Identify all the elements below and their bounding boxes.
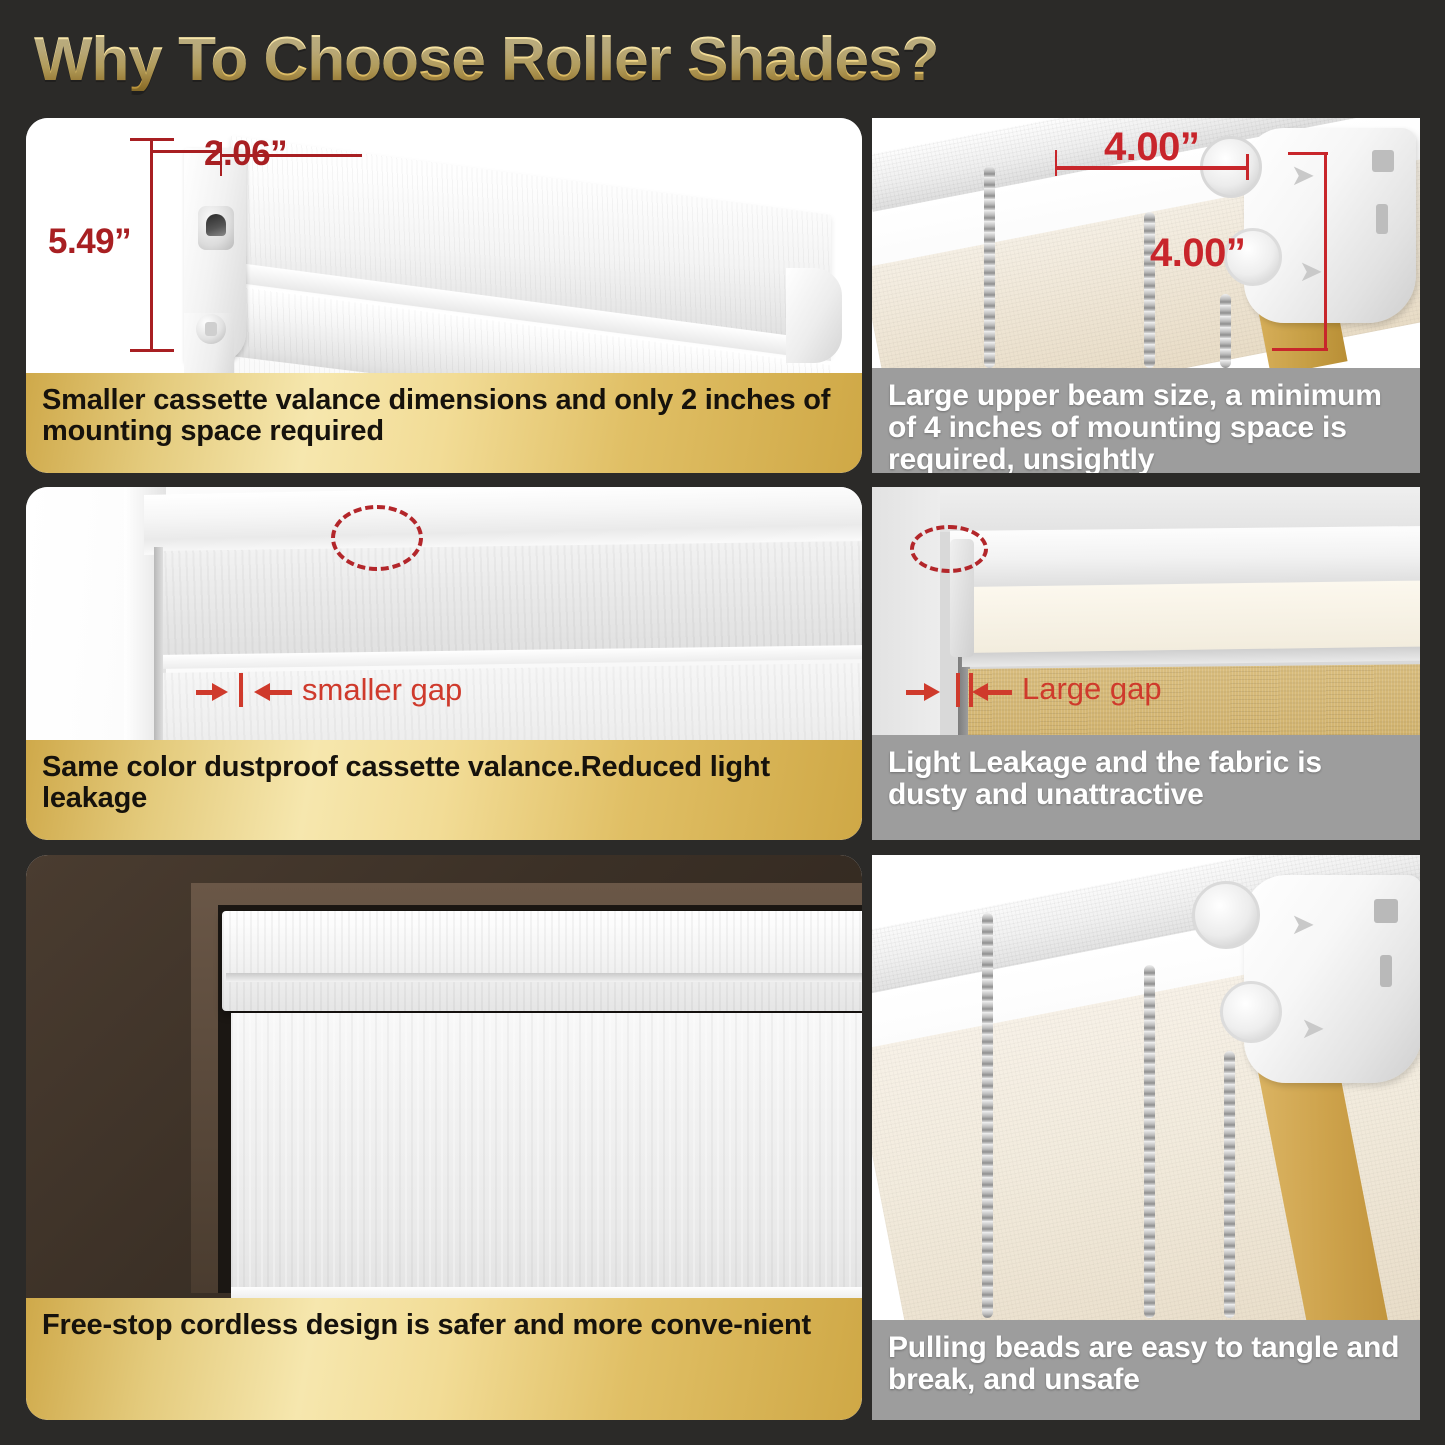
panel-4-caption: Light Leakage and the fabric is dusty an… <box>872 735 1420 840</box>
head-rail <box>950 526 1420 589</box>
head-rail-lower <box>962 580 1420 655</box>
panel-5-caption-text: Free-stop cordless design is safer and m… <box>42 1310 811 1341</box>
bead-chain-left <box>984 166 995 368</box>
dim-height-bottom-tick <box>130 349 174 352</box>
dim-height-line-2 <box>1324 268 1327 350</box>
panel-pulling-beads: ➤ ➤ Pulling beads are easy to tangle and… <box>872 855 1420 1420</box>
gap-label: smaller gap <box>302 672 462 708</box>
panel-6-photo: ➤ ➤ <box>872 855 1420 1320</box>
gap-arrow-right-stem <box>906 690 928 695</box>
dim-height-bottom-tick <box>1272 348 1328 351</box>
bracket-slot-upper <box>1372 150 1394 172</box>
gap-arrow-right-stem <box>196 690 216 695</box>
panel-3-caption-text: Same color dustproof cassette valance.Re… <box>42 752 846 814</box>
bracket-slot-lower <box>1376 204 1388 234</box>
valance-end-cap <box>786 268 842 363</box>
bracket-arrow-icon-2: ➤ <box>1302 1013 1324 1044</box>
roller-end-disc <box>1192 881 1260 949</box>
bracket-slot-lower <box>1380 955 1392 987</box>
panel-1-caption-text: Smaller cassette valance dimensions and … <box>42 385 846 447</box>
panel-large-beam: ➤ ➤ 4.00” 4.00” Large upper beam size, a… <box>872 118 1420 473</box>
panel-5-photo <box>26 855 862 1298</box>
panel-4-caption-text: Light Leakage and the fabric is dusty an… <box>888 747 1404 811</box>
gap-label: Large gap <box>1022 671 1162 707</box>
bracket-clip-icon <box>198 206 234 250</box>
dim-height-line <box>150 138 153 352</box>
shade-fabric <box>154 663 862 740</box>
panel-4-photo: Large gap <box>872 487 1420 735</box>
cassette-valance <box>222 911 862 1011</box>
panel-2-caption: Large upper beam size, a minimum of 4 in… <box>872 368 1420 473</box>
panel-light-leakage: Large gap Light Leakage and the fabric i… <box>872 487 1420 840</box>
bead-chain-right <box>1220 294 1231 368</box>
panel-2-photo: ➤ ➤ 4.00” 4.00” <box>872 118 1420 368</box>
panel-6-caption-text: Pulling beads are easy to tangle and bre… <box>888 1332 1404 1396</box>
dim-width-label: 4.00” <box>1104 125 1199 170</box>
highlight-ellipse <box>331 505 423 571</box>
mounting-bracket: ➤ ➤ <box>1244 875 1420 1083</box>
valance-groove <box>226 973 862 982</box>
dim-width-left-tick <box>1055 150 1057 176</box>
gap-arrow-left-stem <box>988 690 1012 695</box>
dim-height-line <box>1324 152 1327 270</box>
page-title: Why To Choose Roller Shades? <box>34 29 938 91</box>
shade-left-edge <box>154 547 163 740</box>
gap-arrow-left-stem <box>270 690 292 695</box>
shade-fabric <box>231 1013 862 1298</box>
panel-2-caption-text: Large upper beam size, a minimum of 4 in… <box>888 380 1404 473</box>
bead-chain-right[interactable] <box>1224 1051 1235 1318</box>
panel-5-caption: Free-stop cordless design is safer and m… <box>26 1298 862 1420</box>
bead-chain-mid[interactable] <box>1144 965 1155 1318</box>
gap-marker-a <box>956 673 960 707</box>
dim-height-top-tick <box>130 138 174 141</box>
bead-chain-left[interactable] <box>982 913 993 1318</box>
bracket-arrow-icon-2: ➤ <box>1300 256 1322 287</box>
bracket-arrow-icon: ➤ <box>1292 909 1314 940</box>
dim-width-label: 2.06” <box>204 134 287 174</box>
panel-1-caption: Smaller cassette valance dimensions and … <box>26 373 862 473</box>
gap-arrow-left-icon <box>972 683 988 701</box>
panel-3-caption: Same color dustproof cassette valance.Re… <box>26 740 862 840</box>
panel-1-photo: 2.06” 5.49” <box>26 118 862 373</box>
bracket-screw-icon <box>196 314 226 344</box>
panel-6-caption: Pulling beads are easy to tangle and bre… <box>872 1320 1420 1420</box>
panel-smaller-cassette: 2.06” 5.49” Smaller cassette valance dim… <box>26 118 862 473</box>
bracket-arrow-icon: ➤ <box>1292 160 1314 191</box>
shade-bottom-rail <box>231 1287 862 1298</box>
cassette-valance <box>154 541 862 661</box>
highlight-ellipse <box>910 525 988 573</box>
panel-dustproof-valance: smaller gap Same color dustproof cassett… <box>26 487 862 840</box>
gap-arrow-left-icon <box>254 683 270 701</box>
panel-cordless-design: Free-stop cordless design is safer and m… <box>26 855 862 1420</box>
page-header: Why To Choose Roller Shades? <box>34 22 938 97</box>
gap-marker <box>239 673 243 707</box>
panel-3-photo: smaller gap <box>26 487 862 740</box>
bracket-slot-upper <box>1374 899 1398 923</box>
dim-height-label: 5.49” <box>48 222 131 262</box>
roller-end-disc-lower <box>1220 981 1282 1043</box>
mounting-bracket: ➤ ➤ <box>1244 128 1416 323</box>
dim-height-label: 4.00” <box>1150 231 1245 276</box>
dim-height-top-tick <box>1288 152 1328 155</box>
